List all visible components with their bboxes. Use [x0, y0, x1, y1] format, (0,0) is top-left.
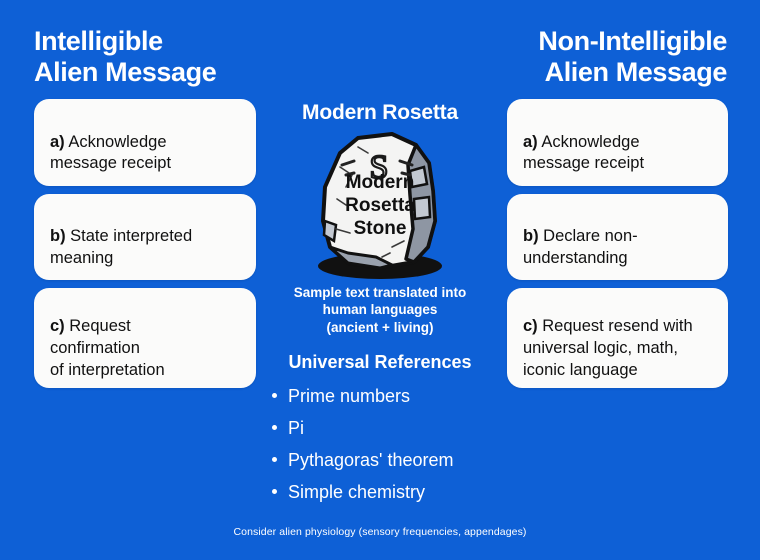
reference-label: Prime numbers — [288, 387, 410, 405]
reference-label: Pythagoras' theorem — [288, 451, 454, 469]
left-card-c-text: c) Request confirmation of interpretatio… — [50, 294, 165, 381]
right-card-a-text: a) Acknowledge message receipt — [523, 110, 644, 175]
footer-note: Consider alien physiology (sensory frequ… — [0, 526, 760, 538]
rosetta-stone-illustration: S Modern Rosetta Stone — [296, 129, 464, 284]
right-card-a-body: Acknowledge message receipt — [523, 133, 644, 173]
stone-right-chip-2 — [414, 197, 430, 219]
left-card-a-body: Acknowledge message receipt — [50, 133, 171, 173]
left-card-c-label: c) — [50, 317, 65, 335]
right-card-b: b) Declare non- understanding — [507, 194, 728, 280]
list-item: Prime numbers — [272, 387, 454, 405]
stone-graphic: S — [296, 129, 464, 284]
universal-references-list: Prime numbers Pi Pythagoras' theorem Sim… — [272, 387, 454, 515]
right-card-b-label: b) — [523, 227, 539, 245]
list-item: Pi — [272, 419, 454, 437]
stone-caption: Sample text translated into human langua… — [260, 284, 500, 336]
right-card-b-body: Declare non- understanding — [523, 227, 638, 267]
left-card-c: c) Request confirmation of interpretatio… — [34, 288, 256, 388]
right-card-c-text: c) Request resend with universal logic, … — [523, 294, 693, 381]
left-card-b-label: b) — [50, 227, 66, 245]
right-card-a: a) Acknowledge message receipt — [507, 99, 728, 186]
infographic-poster: Intelligible Alien Message a) Acknowledg… — [0, 0, 760, 560]
left-card-b-text: b) State interpreted meaning — [50, 204, 192, 269]
stone-right-chip-1 — [410, 167, 427, 187]
right-card-b-text: b) Declare non- understanding — [523, 204, 638, 269]
bullet-icon — [272, 489, 277, 494]
right-card-c: c) Request resend with universal logic, … — [507, 288, 728, 388]
right-card-c-body: Request resend with universal logic, mat… — [523, 317, 693, 379]
list-item: Simple chemistry — [272, 483, 454, 501]
left-card-c-body: Request confirmation of interpretation — [50, 317, 165, 379]
right-column-heading: Non-Intelligible Alien Message — [538, 26, 727, 89]
bullet-icon — [272, 425, 277, 430]
left-card-a-label: a) — [50, 133, 65, 151]
reference-label: Pi — [288, 419, 304, 437]
alien-glyph: S — [370, 149, 389, 186]
bullet-icon — [272, 457, 277, 462]
universal-references-title: Universal References — [260, 352, 500, 373]
list-item: Pythagoras' theorem — [272, 451, 454, 469]
left-card-b-body: State interpreted meaning — [50, 227, 192, 267]
right-card-c-label: c) — [523, 317, 538, 335]
left-column-heading: Intelligible Alien Message — [34, 26, 216, 89]
bullet-icon — [272, 393, 277, 398]
reference-label: Simple chemistry — [288, 483, 425, 501]
right-card-a-label: a) — [523, 133, 538, 151]
left-card-b: b) State interpreted meaning — [34, 194, 256, 280]
